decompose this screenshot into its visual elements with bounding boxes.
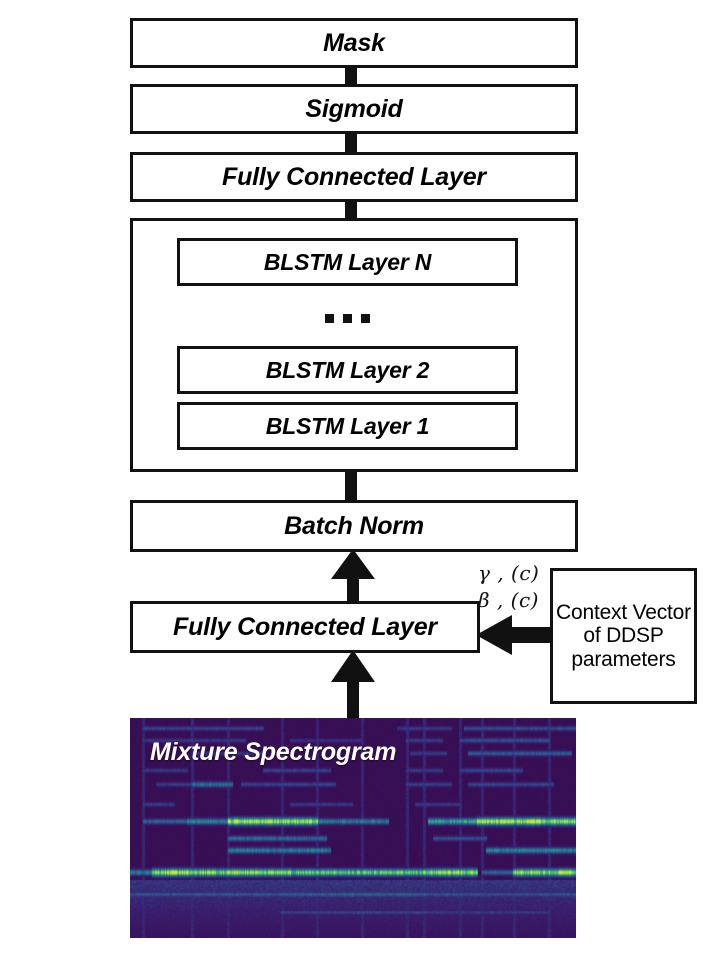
ellipsis-dot (343, 314, 352, 323)
node-blstm-layer-1-label: BLSTM Layer 1 (266, 414, 430, 438)
blstm-ellipsis (177, 300, 518, 336)
node-context-vector[interactable]: Context Vector of DDSP parameters (550, 568, 697, 704)
arrow-context-to-fc (476, 613, 554, 657)
connector-batchnorm-to-blstm (345, 468, 357, 504)
node-blstm-layer-n-label: BLSTM Layer N (264, 250, 431, 274)
node-context-vector-label: Context Vector of DDSP parameters (555, 601, 692, 672)
mixture-spectrogram-image: Mixture Spectrogram (130, 718, 576, 938)
arrow-spectrogram-to-fc (326, 650, 380, 724)
node-blstm-layer-n[interactable]: BLSTM Layer N (177, 238, 518, 286)
node-batch-norm-label: Batch Norm (284, 513, 424, 539)
node-blstm-layer-1[interactable]: BLSTM Layer 1 (177, 402, 518, 450)
arrow-fc-to-batchnorm (326, 549, 380, 605)
ellipsis-dot (325, 314, 334, 323)
node-fully-connected-top[interactable]: Fully Connected Layer (130, 152, 578, 202)
node-sigmoid-label: Sigmoid (305, 96, 402, 122)
node-fully-connected-bottom-label: Fully Connected Layer (173, 614, 437, 640)
node-fully-connected-bottom[interactable]: Fully Connected Layer (130, 601, 480, 653)
ellipsis-dot (361, 314, 370, 323)
architecture-diagram: Mask Sigmoid Fully Connected Layer BLSTM… (0, 0, 708, 958)
edge-label-gamma: γ , (c) (478, 561, 539, 585)
node-blstm-layer-2-label: BLSTM Layer 2 (266, 358, 430, 382)
node-blstm-layer-2[interactable]: BLSTM Layer 2 (177, 346, 518, 394)
edge-label-beta: β , (c) (478, 588, 539, 612)
spectrogram-label: Mixture Spectrogram (150, 738, 396, 767)
node-sigmoid[interactable]: Sigmoid (130, 84, 578, 134)
node-mask[interactable]: Mask (130, 18, 578, 68)
node-batch-norm[interactable]: Batch Norm (130, 500, 578, 552)
node-fully-connected-top-label: Fully Connected Layer (222, 164, 486, 190)
node-mask-label: Mask (323, 30, 385, 56)
